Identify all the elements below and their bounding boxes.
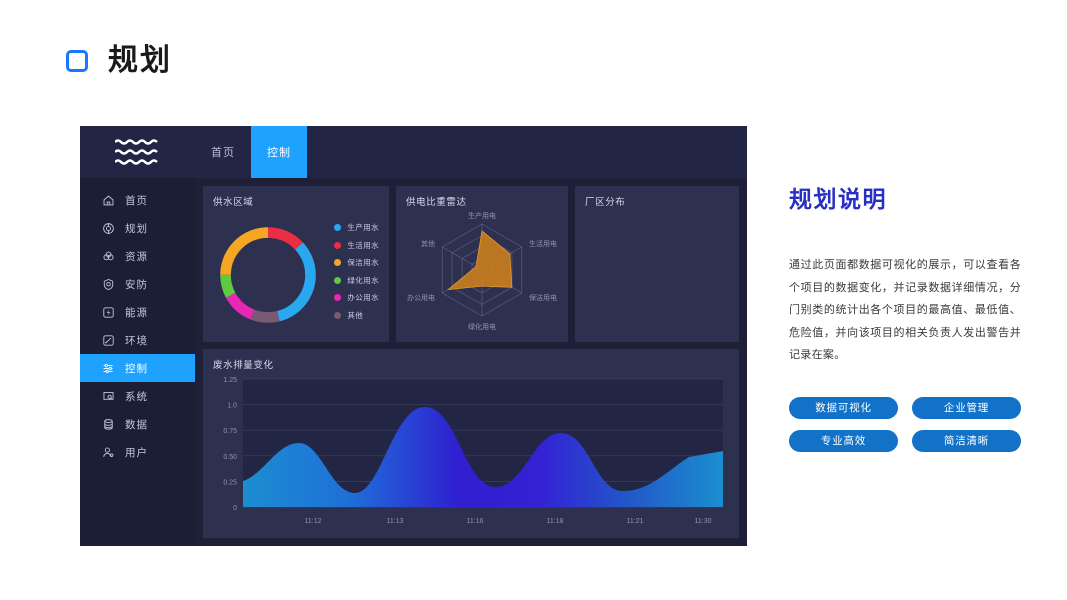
x-tick: 11:13	[387, 518, 404, 525]
sidebar-item-control[interactable]: 控制	[80, 354, 195, 382]
radar-axis-label: 办公用电	[407, 293, 435, 302]
panel-title: 供电比重雷达	[406, 194, 467, 208]
sidebar-item-energy[interactable]: 能源	[80, 298, 195, 326]
legend-label: 绿化用水	[347, 275, 379, 286]
legend-swatch	[334, 242, 341, 249]
tag-professional-efficient[interactable]: 专业高效	[789, 430, 898, 452]
area-chart: 1.25 1.0 0.75 0.50 0.25 0 11:12 11:13 11…	[203, 373, 738, 543]
tag-enterprise-management[interactable]: 企业管理	[912, 397, 1021, 419]
radar-axis-label: 其他	[421, 239, 435, 248]
x-tick: 11:16	[467, 518, 484, 525]
legend-swatch	[334, 224, 341, 231]
legend-item: 保洁用水	[334, 257, 379, 268]
sidebar-item-label: 控制	[125, 361, 148, 376]
legend-swatch	[334, 312, 341, 319]
legend-swatch	[334, 259, 341, 266]
sidebar-item-label: 首页	[125, 193, 148, 208]
panel-title: 供水区域	[213, 194, 253, 208]
legend-label: 生产用水	[347, 222, 379, 233]
sidebar-item-label: 系统	[125, 389, 148, 404]
donut-legend: 生产用水 生活用水 保洁用水 绿化用水	[334, 222, 379, 321]
x-tick: 11:12	[305, 518, 322, 525]
water-waves-logo	[80, 126, 195, 178]
legend-swatch	[334, 294, 341, 301]
tag-list: 数据可视化 企业管理 专业高效 简洁清晰	[789, 397, 1021, 452]
description-panel: 规划说明 通过此页面都数据可视化的展示，可以查看各个项目的数据变化，并记录数据详…	[789, 180, 1021, 452]
y-tick: 0.25	[223, 479, 237, 486]
shield-icon	[102, 278, 115, 291]
tag-clean-clear[interactable]: 简洁清晰	[912, 430, 1021, 452]
sidebar-item-label: 安防	[125, 277, 148, 292]
legend-label: 办公用水	[347, 292, 379, 303]
legend-item: 生活用水	[334, 240, 379, 251]
dashboard-content: 供水区域	[195, 178, 747, 546]
panel-wastewater-trend: 废水排量变化	[203, 349, 739, 538]
database-icon	[102, 418, 115, 431]
sidebar-item-home[interactable]: 首页	[80, 186, 195, 214]
square-outline-icon	[66, 50, 88, 72]
sliders-icon	[102, 362, 115, 375]
user-icon	[102, 446, 115, 459]
sidebar-item-data[interactable]: 数据	[80, 410, 195, 438]
x-tick: 11:21	[627, 518, 644, 525]
legend-label: 生活用水	[347, 240, 379, 251]
waves-glyph	[115, 139, 161, 165]
sidebar-item-environment[interactable]: 环境	[80, 326, 195, 354]
y-tick: 1.25	[223, 377, 237, 384]
description-heading: 规划说明	[789, 180, 1021, 214]
panel-water-area: 供水区域	[203, 186, 389, 342]
donut-chart	[209, 216, 327, 334]
radar-axis-label: 生产用电	[468, 211, 496, 220]
legend-item: 其他	[334, 310, 379, 321]
legend-label: 保洁用水	[347, 257, 379, 268]
sidebar: 首页 规划 资源 安防	[80, 178, 195, 546]
panel-title: 厂区分布	[585, 194, 625, 208]
y-tick: 0.50	[223, 454, 237, 461]
sidebar-item-system[interactable]: 系统	[80, 382, 195, 410]
legend-item: 生产用水	[334, 222, 379, 233]
description-body: 通过此页面都数据可视化的展示，可以查看各个项目的数据变化，并记录数据详细情况，分…	[789, 254, 1021, 367]
radar-chart: 生产用电 生活用电 保洁用电 绿化用电 办公用电 其他	[396, 208, 568, 342]
bolt-icon	[102, 306, 115, 319]
dashboard-header: 首页 控制	[80, 126, 747, 178]
panel-plant-distribution: 厂区分布	[575, 186, 739, 342]
x-tick: 11:18	[547, 518, 564, 525]
cloud-icon	[102, 250, 115, 263]
legend-swatch	[334, 277, 341, 284]
gauge-icon	[102, 334, 115, 347]
page-title: 规划	[108, 46, 172, 76]
legend-item: 绿化用水	[334, 275, 379, 286]
radar-axis-label: 生活用电	[529, 239, 557, 248]
sidebar-item-resource[interactable]: 资源	[80, 242, 195, 270]
home-icon	[102, 194, 115, 207]
x-tick: 11:30	[695, 518, 712, 525]
y-tick: 0	[233, 505, 237, 512]
target-icon	[102, 222, 115, 235]
y-tick: 0.75	[223, 428, 237, 435]
tab-home[interactable]: 首页	[195, 126, 251, 178]
sidebar-item-label: 数据	[125, 417, 148, 432]
sidebar-item-planning[interactable]: 规划	[80, 214, 195, 242]
page-header: 规划	[66, 46, 172, 76]
legend-item: 办公用水	[334, 292, 379, 303]
dashboard-frame: 首页 控制 首页 规划 资源	[80, 126, 747, 546]
sidebar-item-label: 用户	[125, 445, 148, 460]
legend-label: 其他	[347, 310, 363, 321]
sidebar-item-label: 能源	[125, 305, 148, 320]
top-tabs: 首页 控制	[195, 126, 307, 178]
tab-control[interactable]: 控制	[251, 126, 307, 178]
sidebar-item-label: 环境	[125, 333, 148, 348]
radar-axis-label: 绿化用电	[468, 322, 496, 331]
sidebar-item-user[interactable]: 用户	[80, 438, 195, 466]
radar-axis-label: 保洁用电	[529, 293, 557, 302]
panel-title: 废水排量变化	[213, 357, 274, 371]
monitor-icon	[102, 390, 115, 403]
sidebar-item-security[interactable]: 安防	[80, 270, 195, 298]
tag-data-visualization[interactable]: 数据可视化	[789, 397, 898, 419]
y-tick: 1.0	[227, 403, 237, 410]
sidebar-item-label: 资源	[125, 249, 148, 264]
panel-power-radar: 供电比重雷达 生产用电 生活用电 保洁用电 绿化用	[396, 186, 568, 342]
sidebar-item-label: 规划	[125, 221, 148, 236]
